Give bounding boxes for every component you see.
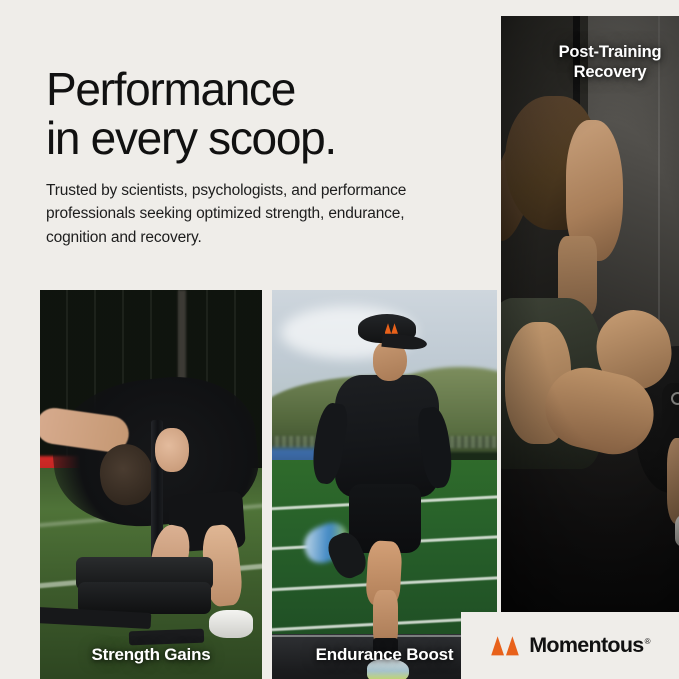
panel-post-training-recovery[interactable]: Post-Training Recovery [501, 16, 679, 628]
hero-title-line-1: Performance [46, 63, 295, 115]
momentous-wordmark: Momentous® [529, 633, 650, 658]
panel-caption-strength: Strength Gains [40, 645, 262, 665]
athlete-shoe-back [209, 610, 253, 638]
hero-title-line-2: in every scoop. [46, 114, 446, 163]
momentous-mark-icon [490, 635, 520, 656]
panel-strength-gains[interactable]: Strength Gains [40, 290, 262, 679]
promo-canvas: Performance in every scoop. Trusted by s… [0, 0, 679, 679]
photo-vignette [501, 16, 679, 628]
brand-logo-lockup[interactable]: Momentous® [461, 612, 679, 679]
recovery-caption-line-1: Post-Training [559, 43, 662, 61]
panel-caption-recovery: Post-Training Recovery [501, 42, 679, 82]
recovery-caption-line-2: Recovery [501, 62, 679, 82]
page-title: Performance in every scoop. [46, 65, 446, 163]
athlete-hand [155, 428, 188, 473]
weight-plate-bottom [78, 582, 211, 614]
hero-subtitle: Trusted by scientists, psychologists, an… [46, 179, 426, 250]
registered-trademark-symbol: ® [645, 637, 650, 646]
hero-text-block: Performance in every scoop. Trusted by s… [0, 0, 457, 272]
brand-name-text: Momentous [529, 633, 643, 657]
